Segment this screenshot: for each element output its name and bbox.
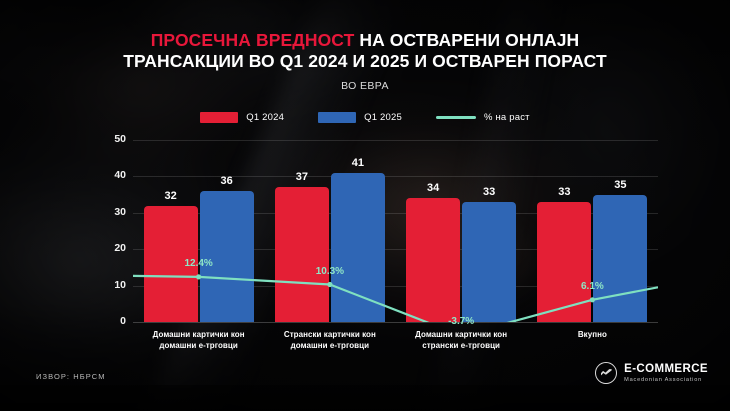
bar-value-label: 36 xyxy=(221,175,233,187)
legend-item-3: % на раст xyxy=(436,112,530,123)
source-note: ИЗВОР: НБРСМ xyxy=(36,372,106,381)
bar-value-label: 32 xyxy=(165,190,177,202)
x-axis-category-4: Вкупно xyxy=(527,330,658,341)
bar-q1-2025-1 xyxy=(200,191,254,322)
page-title: ПРОСЕЧНА ВРЕДНОСТ НА ОСТВАРЕНИ ОНЛАЈН ТР… xyxy=(0,30,730,72)
legend-item-1: Q1 2024 xyxy=(200,112,284,123)
page-subtitle: ВО ЕВРА xyxy=(0,80,730,92)
legend-color-swatch xyxy=(318,112,356,123)
bar-q1-2025-2 xyxy=(331,173,385,322)
title-accent: ПРОСЕЧНА ВРЕДНОСТ xyxy=(151,30,355,50)
bar-value-label: 33 xyxy=(558,186,570,198)
y-axis-tick-20: 20 xyxy=(92,242,126,254)
y-axis: 01020304050 xyxy=(90,140,126,322)
y-axis-tick-50: 50 xyxy=(92,133,126,145)
legend-label: % на раст xyxy=(484,112,530,123)
bar-q1-2024-2 xyxy=(275,187,329,322)
legend-label: Q1 2025 xyxy=(364,112,402,123)
y-axis-tick-30: 30 xyxy=(92,206,126,218)
chat-bubble-chart-icon xyxy=(595,362,617,384)
title-line2: ТРАНСАКЦИИ ВО Q1 2024 И 2025 И ОСТВАРЕН … xyxy=(123,51,607,71)
bar-q1-2024-4 xyxy=(537,202,591,322)
title-rest: НА ОСТВАРЕНИ ОНЛАЈН xyxy=(354,30,579,50)
bar-value-label: 41 xyxy=(352,157,364,169)
legend-line-marker xyxy=(436,116,476,119)
gridline-40 xyxy=(133,176,658,177)
brand-logo: E-COMMERCE Macedonian Association xyxy=(595,362,708,384)
bar-q1-2024-3 xyxy=(406,198,460,322)
legend-label: Q1 2024 xyxy=(246,112,284,123)
legend-item-2: Q1 2025 xyxy=(318,112,402,123)
legend-color-swatch xyxy=(200,112,238,123)
x-axis-category-2: Странски картички кондомашни е-трговци xyxy=(264,330,395,352)
gridline-50 xyxy=(133,140,658,141)
bar-value-label: 34 xyxy=(427,182,439,194)
logo-title: E-COMMERCE xyxy=(624,363,708,376)
bar-value-label: 35 xyxy=(614,179,626,191)
bar-q1-2025-4 xyxy=(593,195,647,322)
chart-legend: Q1 2024Q1 2025% на раст xyxy=(0,112,730,123)
bar-value-label: 33 xyxy=(483,186,495,198)
bar-q1-2024-1 xyxy=(144,206,198,322)
x-axis-line xyxy=(133,322,658,323)
y-axis-tick-10: 10 xyxy=(92,279,126,291)
x-axis-category-1: Домашни картички кондомашни е-трговци xyxy=(133,330,264,352)
bar-q1-2025-3 xyxy=(462,202,516,322)
chart-plot-area: 3236374134333335 xyxy=(133,140,658,322)
bar-value-label: 37 xyxy=(296,171,308,183)
logo-subtitle: Macedonian Association xyxy=(624,377,708,383)
x-axis-category-3: Домашни картички констрански е-трговци xyxy=(396,330,527,352)
y-axis-tick-40: 40 xyxy=(92,169,126,181)
y-axis-tick-0: 0 xyxy=(92,315,126,327)
